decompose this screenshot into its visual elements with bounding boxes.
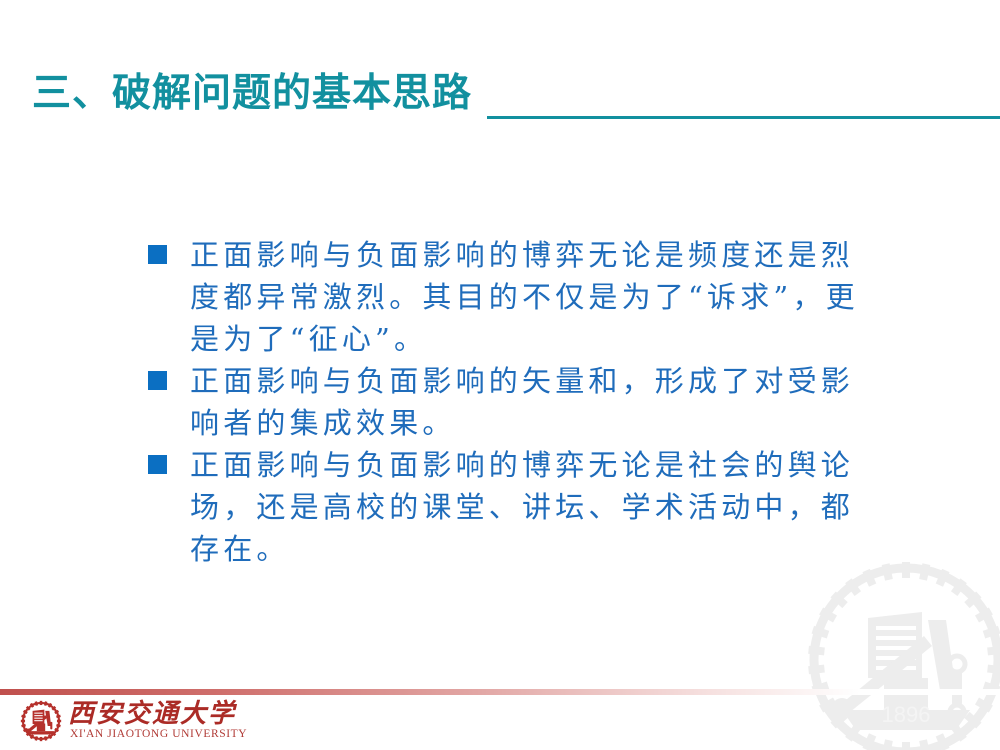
university-emblem-watermark-icon: 1896 xyxy=(806,560,1000,750)
list-item-text: 正面影响与负面影响的矢量和，形成了对受影响者的集成效果。 xyxy=(190,360,876,444)
bullet-list: 正面影响与负面影响的博弈无论是频度还是烈度都异常激烈。其目的不仅是为了“诉求”，… xyxy=(146,234,876,570)
watermark-year: 1896 xyxy=(882,702,931,727)
page-title: 三、破解问题的基本思路 xyxy=(32,70,472,118)
list-item-text: 正面影响与负面影响的博弈无论是社会的舆论场，还是高校的课堂、讲坛、学术活动中，都… xyxy=(190,444,876,570)
title-underline-rule xyxy=(487,116,1000,119)
footer-divider-rule xyxy=(0,689,1000,695)
presentation-slide: 1896 三、破解问题的基本思路 正面影响与负面影响的博弈无论是频度还是烈度都异… xyxy=(0,0,1000,750)
list-item: 正面影响与负面影响的博弈无论是频度还是烈度都异常激烈。其目的不仅是为了“诉求”，… xyxy=(146,234,876,360)
university-name-en: XI'AN JIAOTONG UNIVERSITY xyxy=(70,728,247,741)
university-seal-icon xyxy=(20,700,62,742)
university-name-cn: 西安交通大学 xyxy=(68,699,236,729)
university-logo: 西安交通大学 XI'AN JIAOTONG UNIVERSITY xyxy=(20,699,250,745)
square-bullet-icon xyxy=(148,371,167,390)
list-item-text: 正面影响与负面影响的博弈无论是频度还是烈度都异常激烈。其目的不仅是为了“诉求”，… xyxy=(190,234,876,360)
square-bullet-icon xyxy=(148,455,167,474)
list-item: 正面影响与负面影响的博弈无论是社会的舆论场，还是高校的课堂、讲坛、学术活动中，都… xyxy=(146,444,876,570)
square-bullet-icon xyxy=(148,245,167,264)
list-item: 正面影响与负面影响的矢量和，形成了对受影响者的集成效果。 xyxy=(146,360,876,444)
slide-title-block: 三、破解问题的基本思路 xyxy=(0,70,1000,126)
